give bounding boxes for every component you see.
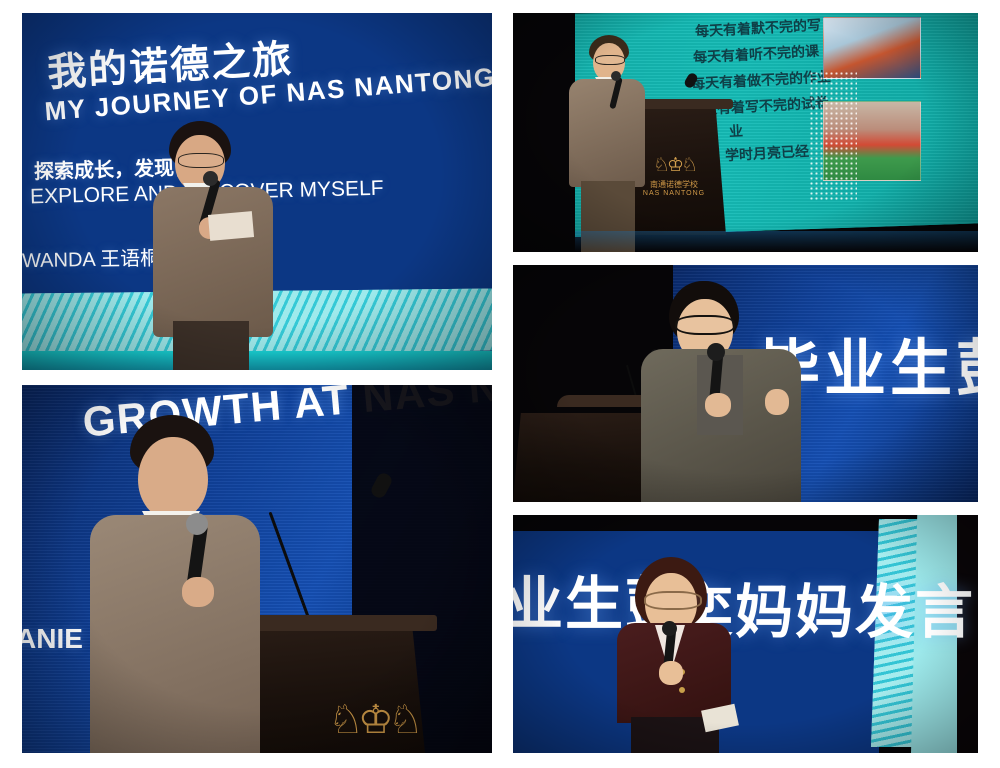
glasses-icon	[595, 55, 625, 65]
panel-bottom-right[interactable]: 业生彭 奕妈妈发言	[513, 515, 978, 753]
panel-bottom-left[interactable]: GROWTH AT NAS NA ANIE ♘♔♘	[22, 385, 492, 753]
slide-photo-classroom	[823, 17, 921, 79]
gold-button-2	[679, 687, 685, 693]
speaker-figure	[641, 281, 831, 502]
speaker-figure	[565, 35, 657, 252]
head	[138, 437, 208, 519]
photo-collage: 我的诺德之旅 MY JOURNEY OF NAS NANTONG 探索成长，发现…	[0, 0, 1000, 768]
glasses-icon	[675, 315, 735, 335]
stage-floor-reflection	[575, 231, 978, 251]
microphone-head-icon	[611, 71, 621, 81]
paper-notes	[208, 211, 254, 241]
speaker-figure	[617, 557, 747, 753]
panel-top-left[interactable]: 我的诺德之旅 MY JOURNEY OF NAS NANTONG 探索成长，发现…	[22, 13, 492, 370]
slide-line-5: 业	[728, 121, 743, 142]
microphone-head-icon	[662, 621, 677, 636]
slide-dot-grid-decoration	[809, 71, 857, 201]
suit-jacket	[90, 515, 260, 753]
hand-right	[765, 389, 789, 415]
speaker-figure	[147, 121, 282, 370]
glasses-icon	[178, 153, 224, 168]
hand	[182, 577, 214, 607]
trousers	[173, 321, 249, 370]
crown-icon: ♘♔♘	[328, 697, 414, 743]
crown-icon: ♘♔♘	[653, 155, 695, 177]
hand-left	[705, 393, 731, 417]
microphone-head-icon	[186, 513, 208, 535]
panel-top-right[interactable]: 每天有着默不完的写 每天有着听不完的课 每天有着做不完的作业 每天有着写不完的试…	[513, 13, 978, 252]
slide-speaker-label: ANIE	[22, 623, 83, 655]
slide-speaker-label: WANDA 王语桐	[22, 242, 160, 273]
suit-jacket	[153, 187, 273, 337]
glasses-icon	[644, 591, 702, 610]
speaker-figure	[80, 415, 270, 753]
hand	[659, 661, 683, 685]
suit-jacket	[569, 79, 645, 187]
panel-middle-right[interactable]: 毕业生彭	[513, 265, 978, 502]
microphone-head-icon	[203, 171, 218, 186]
microphone-head-icon	[707, 343, 725, 361]
